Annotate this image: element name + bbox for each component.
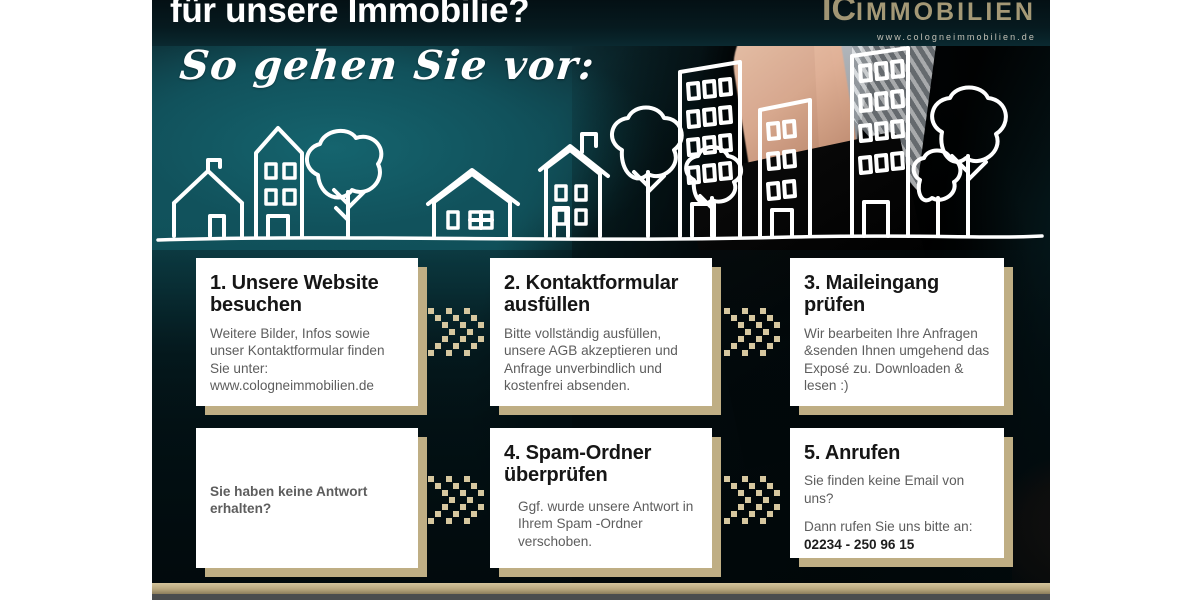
chevron-arrow-icon bbox=[720, 300, 786, 366]
step-card-3: 3. Maileingang prüfen Wir bearbeiten Ihr… bbox=[790, 258, 1004, 406]
brand-logo: ICIMMOBILIEN www.cologneimmobilien.de bbox=[822, 0, 1036, 42]
step-card-2-heading: 2. Kontaktformular ausfüllen bbox=[504, 272, 698, 317]
step-card-4-body: Ggf. wurde unsere Antwort in Ihrem Spam … bbox=[518, 498, 698, 550]
step-card-5: 5. Anrufen Sie finden keine Email von un… bbox=[790, 428, 1004, 558]
logo-url: www.cologneimmobilien.de bbox=[822, 32, 1036, 42]
infographic-panel: für unsere Immobilie? So gehen Sie vor: … bbox=[152, 0, 1050, 600]
step-card-5-callto: Dann rufen Sie uns bitte an: bbox=[804, 518, 990, 535]
step-card-1-heading: 1. Unsere Website besuchen bbox=[210, 272, 404, 317]
bottom-gold-bar bbox=[152, 583, 1050, 594]
phone-number[interactable]: 02234 - 250 96 15 bbox=[804, 537, 914, 552]
bottom-gray-bar bbox=[152, 594, 1050, 600]
no-answer-card: Sie haben keine Antwort erhalten? bbox=[196, 428, 418, 568]
step-card-5-body: Sie finden keine Email von uns? bbox=[804, 472, 990, 507]
no-answer-question: Sie haben keine Antwort erhalten? bbox=[210, 483, 404, 518]
step-card-1-body: Weitere Bilder, Infos sowie unser Kontak… bbox=[210, 325, 404, 395]
page-title: für unsere Immobilie? bbox=[170, 0, 890, 31]
step-card-2: 2. Kontaktformular ausfüllen Bitte volls… bbox=[490, 258, 712, 406]
step-card-4-heading: 4. Spam-Ordner überprüfen bbox=[504, 442, 698, 487]
logo-mark: IC bbox=[822, 0, 856, 28]
infographic-canvas: für unsere Immobilie? So gehen Sie vor: … bbox=[0, 0, 1200, 600]
step-card-2-body: Bitte vollständig ausfüllen, unsere AGB … bbox=[504, 325, 698, 395]
chevron-arrow-icon bbox=[720, 468, 786, 534]
chevron-arrow-icon bbox=[424, 300, 490, 366]
chevron-arrow-icon bbox=[424, 468, 490, 534]
logo-name: IMMOBILIEN bbox=[856, 0, 1036, 26]
step-card-3-body: Wir bearbeiten Ihre Anfragen &senden Ihn… bbox=[804, 325, 990, 395]
page-subtitle: So gehen Sie vor: bbox=[178, 42, 598, 89]
step-card-1: 1. Unsere Website besuchen Weitere Bilde… bbox=[196, 258, 418, 406]
step-card-5-heading: 5. Anrufen bbox=[804, 442, 990, 464]
step-card-3-heading: 3. Maileingang prüfen bbox=[804, 272, 990, 317]
step-card-4: 4. Spam-Ordner überprüfen Ggf. wurde uns… bbox=[490, 428, 712, 568]
